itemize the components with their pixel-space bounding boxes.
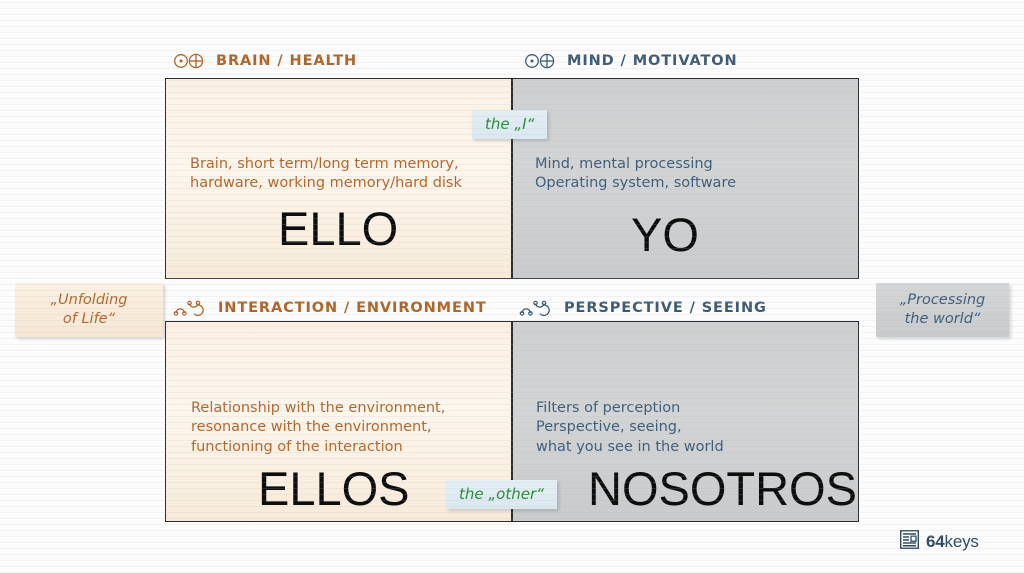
- logo-64keys: 64keys: [900, 530, 979, 553]
- side-label-unfolding-of-life: „Unfolding of Life“: [15, 283, 163, 337]
- quadrant-header-label: PERSPECTIVE / SEEING: [564, 300, 767, 316]
- linked-nodes-icon: [519, 299, 555, 316]
- quadrant-header-label: MIND / MOTIVATON: [567, 53, 738, 69]
- bigword-yo: YO: [631, 207, 699, 262]
- logo-number: 64: [926, 532, 945, 551]
- bigword-ellos: ELLOS: [258, 461, 410, 516]
- callout-the-i: the „I“: [472, 110, 547, 139]
- quadrant-body-interaction-environment: Relationship with the environment, reson…: [191, 399, 445, 457]
- quadrant-header-perspective-seeing: PERSPECTIVE / SEEING: [519, 299, 767, 316]
- quadrant-body-brain-health: Brain, short term/long term memory, hard…: [190, 155, 462, 194]
- logo-text: 64keys: [926, 532, 979, 552]
- slide-canvas: BRAIN / HEALTH MIND / MOTIVATON: [0, 0, 1024, 573]
- circle-dot-plus-icon: [173, 53, 207, 69]
- logo-word: keys: [945, 532, 979, 551]
- bigword-nosotros: NOSOTROS: [588, 461, 857, 516]
- bigword-ello: ELLO: [278, 201, 398, 256]
- linked-nodes-icon: [173, 299, 209, 316]
- quadrant-header-brain-health: BRAIN / HEALTH: [173, 53, 357, 69]
- quadrant-header-interaction-environment: INTERACTION / ENVIRONMENT: [173, 299, 487, 316]
- circle-dot-plus-icon: [524, 53, 558, 69]
- quadrant-body-perspective-seeing: Filters of perception Perspective, seein…: [536, 399, 724, 457]
- quadrant-body-mind-motivation: Mind, mental processing Operating system…: [535, 155, 736, 194]
- quadrant-header-label: INTERACTION / ENVIRONMENT: [218, 300, 487, 316]
- callout-the-other: the „other“: [446, 480, 557, 509]
- striped-square-icon: [900, 530, 919, 553]
- side-label-processing-the-world: „Processing the world“: [876, 283, 1009, 337]
- quadrant-header-label: BRAIN / HEALTH: [216, 53, 357, 69]
- quadrant-header-mind-motivation: MIND / MOTIVATON: [524, 53, 738, 69]
